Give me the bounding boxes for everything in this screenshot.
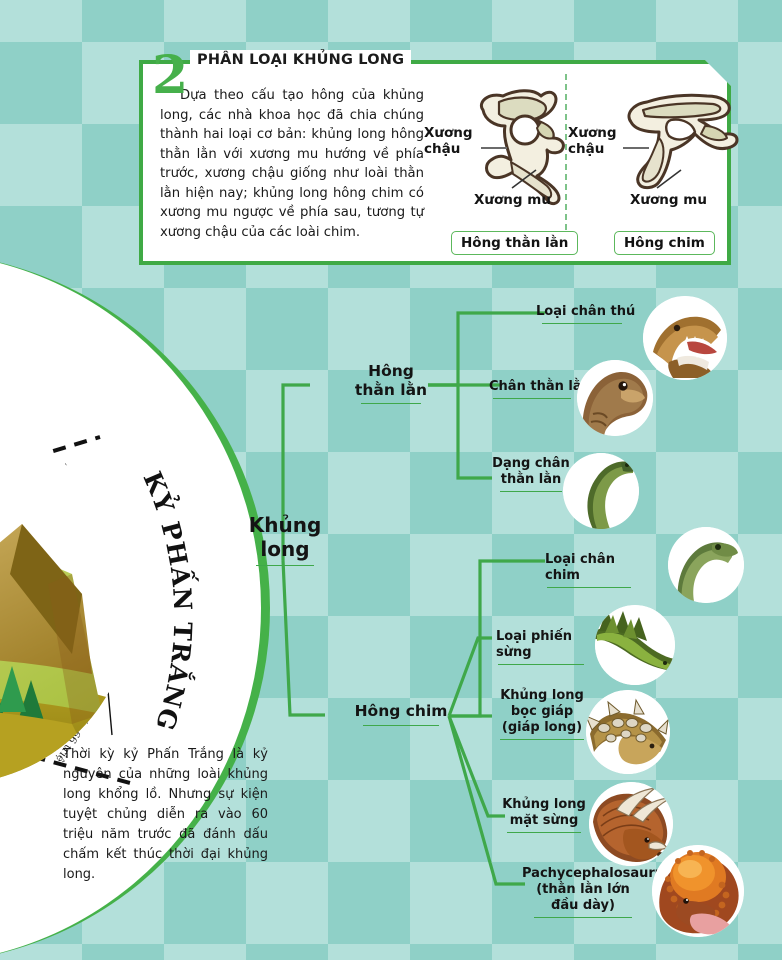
- node-underline: [507, 832, 581, 833]
- lizard-hip-pelvis-label: Xương chậu: [424, 125, 482, 157]
- bubble-sauropodomorpha-head[interactable]: [577, 360, 653, 436]
- bubble-sauropoda-neck[interactable]: [563, 453, 639, 529]
- section-title: PHÂN LOẠI KHỦNG LONG: [190, 50, 411, 70]
- node-underline: [256, 565, 314, 566]
- tree-node-pachycephalosauria[interactable]: Pachycephalosaurus (thằn lằn lớn đầu dày…: [522, 866, 644, 918]
- node-underline: [534, 917, 632, 918]
- tree-node-ornithopoda[interactable]: Loại chân chim: [545, 552, 653, 588]
- node-underline: [500, 491, 562, 492]
- section-number: 2: [152, 50, 188, 102]
- tree-node-root[interactable]: Khủng long: [243, 513, 327, 566]
- bubble-pachycephalosauria[interactable]: [652, 845, 744, 937]
- bird-hip-pelvis-label: Xương chậu: [568, 125, 626, 157]
- node-underline: [361, 403, 421, 404]
- section-body-text: Dựa theo cấu tạo hông của khủng long, cá…: [160, 88, 424, 240]
- tree-node-ankylosauria[interactable]: Khủng long bọc giáp (giáp long): [496, 688, 588, 740]
- bubble-ceratopsia-triceratops[interactable]: [589, 782, 673, 866]
- tree-node-ornithischia[interactable]: Hông chim: [352, 702, 450, 726]
- bird-hip-caption: Hông chim: [614, 231, 715, 255]
- bird-hip-pelvis-leader: [623, 147, 649, 149]
- bubble-ankylosauria[interactable]: [586, 690, 670, 774]
- tree-node-sauropoda[interactable]: Dạng chân thằn lằn: [487, 456, 575, 492]
- bird-hip-pubis-label: Xương mu: [630, 192, 707, 208]
- node-underline: [493, 398, 571, 399]
- bird-hip-pubis-leader: [655, 168, 685, 190]
- lizard-hip-caption: Hông thằn lằn: [451, 231, 578, 255]
- lizard-hip-pubis-label: Xương mu: [474, 192, 551, 208]
- node-underline: [363, 725, 439, 726]
- era-caption: Thời kỳ kỷ Phấn Trắng là kỷ nguyên của n…: [63, 745, 268, 885]
- node-underline: [498, 664, 584, 665]
- lizard-hip-pelvis-leader: [481, 147, 507, 149]
- tree-node-saurischia[interactable]: Hông thằn lằn: [350, 362, 432, 404]
- bubble-theropoda-tyrannosaurus[interactable]: [643, 296, 727, 380]
- node-underline: [542, 323, 622, 324]
- bubble-ornithopoda[interactable]: [668, 527, 744, 603]
- node-underline: [547, 587, 631, 588]
- tree-node-theropoda[interactable]: Loại chân thú: [536, 304, 640, 324]
- infographic-root: Kỷ Phấn Trắng (Creta) cách nay 145 triệu…: [0, 0, 782, 960]
- tree-node-ceratopsia[interactable]: Khủng long mặt sừng: [500, 797, 588, 833]
- node-underline: [500, 739, 584, 740]
- section-body: Dựa theo cấu tạo hông của khủng long, cá…: [160, 86, 424, 242]
- tree-node-stegosauria[interactable]: Loại phiến sừng: [496, 629, 608, 665]
- bubble-stegosauria[interactable]: [595, 605, 675, 685]
- lizard-hip-pubis-leader: [510, 168, 540, 190]
